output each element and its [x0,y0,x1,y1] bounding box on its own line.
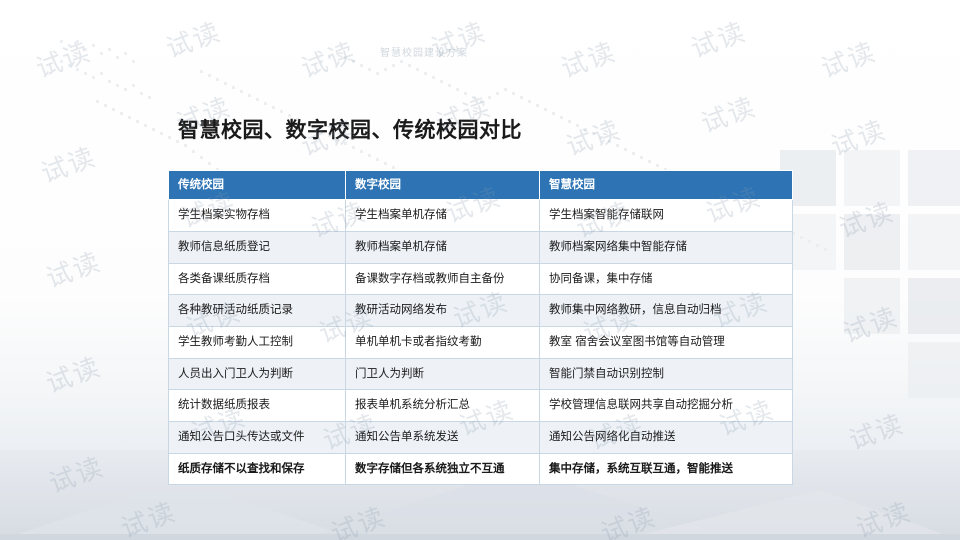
decorative-squares [770,150,960,410]
table-cell: 门卫人为判断 [346,358,540,390]
table-cell: 数字存储但各系统独立不互通 [346,453,540,485]
table-cell: 教室 宿舍会议室图书馆等自动管理 [540,327,793,359]
table-cell: 通知公告网络化自动推送 [540,422,793,454]
comparison-table: 传统校园 数字校园 智慧校园 学生档案实物存档 学生档案单机存储 学生档案智能存… [168,170,793,485]
table-cell: 各类备课纸质存档 [169,263,346,295]
table-cell: 学生档案智能存储联网 [540,200,793,232]
table-cell: 学生档案实物存档 [169,200,346,232]
table-cell: 教师档案单机存储 [346,232,540,264]
table-header-cell: 数字校园 [346,171,540,200]
table-row: 各种教研活动纸质记录 教研活动网络发布 教师集中网络教研，信息自动归档 [169,295,793,327]
table-row: 人员出入门卫人为判断 门卫人为判断 智能门禁自动识别控制 [169,358,793,390]
table-cell: 报表单机系统分析汇总 [346,390,540,422]
comparison-table-container: 传统校园 数字校园 智慧校园 学生档案实物存档 学生档案单机存储 学生档案智能存… [168,170,792,485]
table-header-cell: 传统校园 [169,171,346,200]
table-row: 教师信息纸质登记 教师档案单机存储 教师档案网络集中智能存储 [169,232,793,264]
table-row: 学生教师考勤人工控制 单机单机卡或者指纹考勤 教室 宿舍会议室图书馆等自动管理 [169,327,793,359]
table-cell: 单机单机卡或者指纹考勤 [346,327,540,359]
table-row: 统计数据纸质报表 报表单机系统分析汇总 学校管理信息联网共享自动挖掘分析 [169,390,793,422]
table-cell: 纸质存储不以查找和保存 [169,453,346,485]
table-row: 纸质存储不以查找和保存 数字存储但各系统独立不互通 集中存储，系统互联互通，智能… [169,453,793,485]
table-cell: 教师集中网络教研，信息自动归档 [540,295,793,327]
table-cell: 通知公告单系统发送 [346,422,540,454]
watermark-text: 试读 [40,347,105,401]
table-cell: 教师信息纸质登记 [169,232,346,264]
top-label: 智慧校园建设方案 [380,44,468,59]
table-cell: 集中存储，系统互联互通，智能推送 [540,453,793,485]
page-title: 智慧校园、数字校园、传统校园对比 [178,114,522,144]
table-cell: 统计数据纸质报表 [169,390,346,422]
table-cell: 协同备课，集中存储 [540,263,793,295]
table-cell: 通知公告口头传达或文件 [169,422,346,454]
table-header-cell: 智慧校园 [540,171,793,200]
table-cell: 学校管理信息联网共享自动挖掘分析 [540,390,793,422]
table-row: 各类备课纸质存档 备课数字存档或教师自主备份 协同备课，集中存储 [169,263,793,295]
table-cell: 人员出入门卫人为判断 [169,358,346,390]
table-cell: 学生档案单机存储 [346,200,540,232]
table-header-row: 传统校园 数字校园 智慧校园 [169,171,793,200]
table-cell: 备课数字存档或教师自主备份 [346,263,540,295]
table-cell: 智能门禁自动识别控制 [540,358,793,390]
table-row: 学生档案实物存档 学生档案单机存储 学生档案智能存储联网 [169,200,793,232]
table-row: 通知公告口头传达或文件 通知公告单系统发送 通知公告网络化自动推送 [169,422,793,454]
table-cell: 教研活动网络发布 [346,295,540,327]
table-cell: 学生教师考勤人工控制 [169,327,346,359]
table-cell: 教师档案网络集中智能存储 [540,232,793,264]
table-cell: 各种教研活动纸质记录 [169,295,346,327]
slide: 智慧校园建设方案 智慧校园、数字校园、传统校园对比 [0,0,960,540]
